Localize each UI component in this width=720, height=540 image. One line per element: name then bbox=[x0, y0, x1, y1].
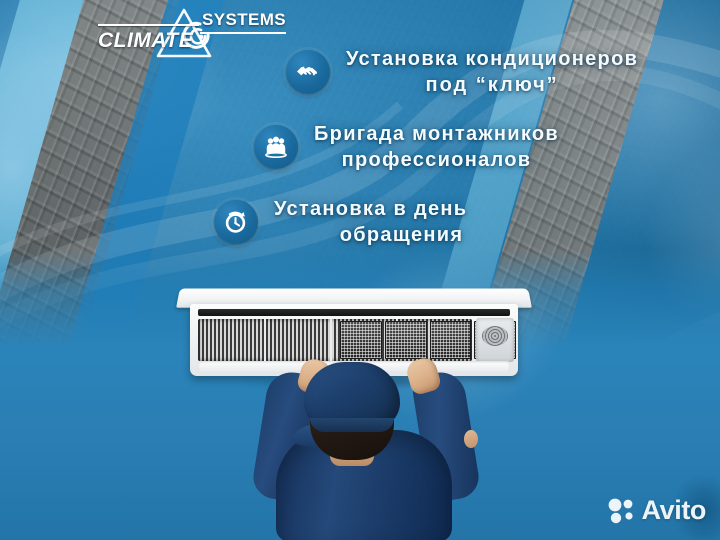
feature-line-2: обращения bbox=[274, 222, 467, 248]
avito-dots-icon bbox=[607, 497, 637, 525]
ac-filter bbox=[430, 321, 472, 359]
ac-filter bbox=[385, 321, 427, 359]
advertisement-poster: CLIMATE SYSTEMS Установка кондиционеров … bbox=[0, 0, 720, 540]
hvac-technician-installing bbox=[238, 356, 488, 540]
technician-ear bbox=[464, 430, 478, 448]
handshake-icon bbox=[286, 50, 330, 94]
feature-list: Установка кондиционеров под “ключ” Брига… bbox=[0, 46, 720, 264]
feature-item-turnkey-installation: Установка кондиционеров под “ключ” bbox=[0, 46, 720, 99]
feature-line-2: профессионалов bbox=[314, 147, 559, 173]
ac-coil-divider bbox=[330, 319, 332, 361]
ac-coil-divider bbox=[264, 319, 266, 361]
avito-wordmark: Avito bbox=[642, 495, 707, 526]
feature-text: Установка кондиционеров под “ключ” bbox=[346, 46, 638, 99]
feature-line-1: Установка кондиционеров bbox=[346, 48, 638, 70]
team-people-icon bbox=[254, 125, 298, 169]
feature-item-professional-team: Бригада монтажников профессионалов bbox=[0, 121, 720, 174]
avito-watermark: Avito bbox=[607, 495, 707, 526]
feature-line-2: под “ключ” bbox=[346, 72, 638, 98]
technician-cap bbox=[304, 362, 400, 428]
technician-right-hand bbox=[404, 355, 442, 396]
logo-systems-text: SYSTEMS bbox=[202, 10, 286, 30]
feature-item-same-day-installation: Установка в день обращения bbox=[0, 196, 720, 249]
fast-clock-icon bbox=[214, 200, 258, 244]
feature-text: Установка в день обращения bbox=[274, 196, 467, 249]
feature-line-1: Установка в день bbox=[274, 198, 467, 220]
ac-intake-slot bbox=[198, 309, 510, 316]
feature-line-1: Бригада монтажников bbox=[314, 123, 559, 145]
ac-filter bbox=[340, 321, 382, 359]
feature-text: Бригада монтажников профессионалов bbox=[314, 121, 559, 174]
